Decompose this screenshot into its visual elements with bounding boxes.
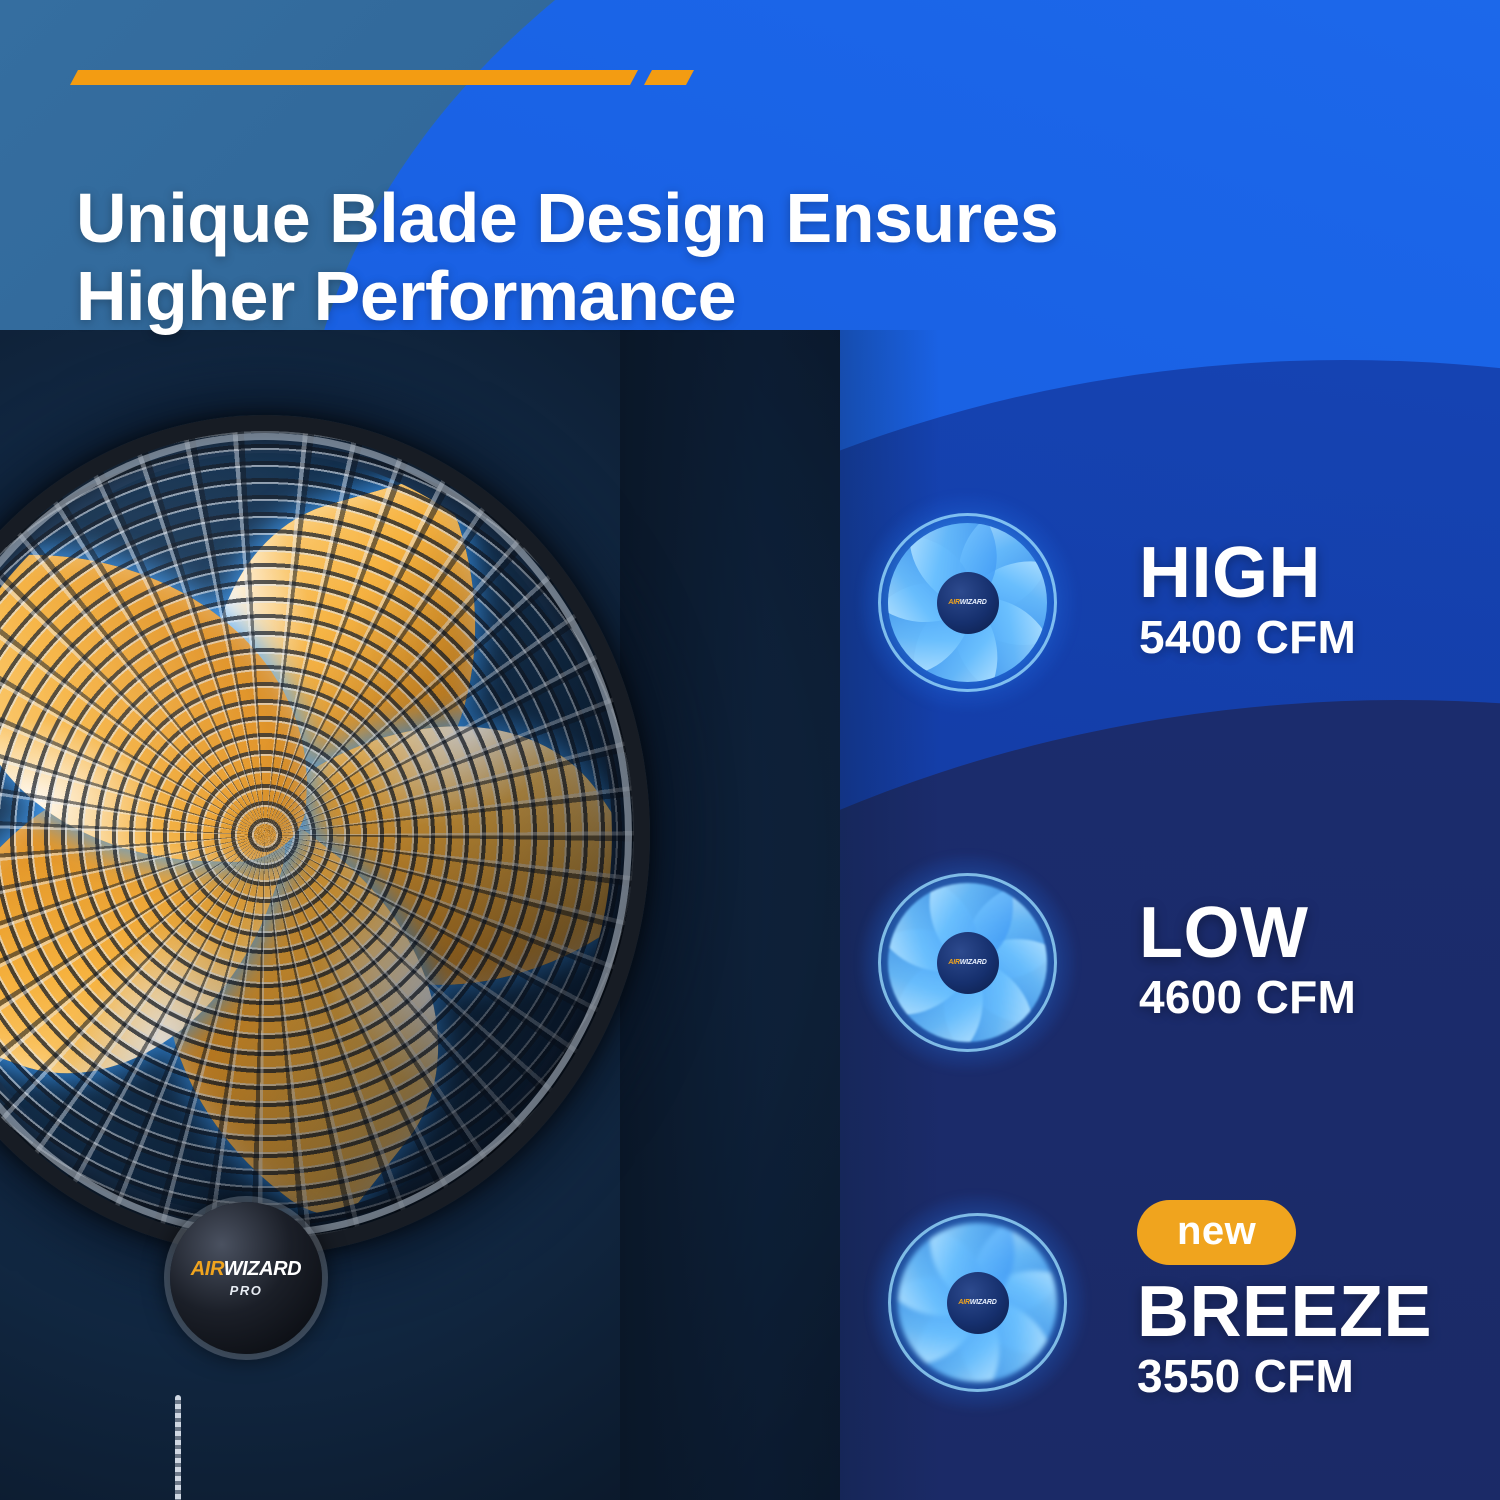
accent-bar-short [644,70,694,85]
icon-hub: AIRWIZARD [937,932,999,994]
accent-bar-long [70,70,638,85]
spec-text-low: LOW 4600 CFM [1139,898,1356,1026]
pull-chain [175,1395,181,1500]
brand-wordmark: AIRWIZARD [191,1259,301,1279]
page-title: Unique Blade Design Ensures Higher Perfo… [76,179,1256,336]
icon-hub-air: AIR [958,1299,969,1306]
product-feature-banner: Unique Blade Design Ensures Higher Perfo… [0,0,1500,1500]
brand-sub-pro: PRO [230,1283,263,1298]
page-title-line-1: Unique Blade Design Ensures [76,179,1058,257]
icon-hub-wordmark: AIRWIZARD [948,599,986,606]
new-badge: new [1137,1200,1296,1265]
accent-rule [74,68,690,86]
icon-hub: AIRWIZARD [947,1272,1009,1334]
spec-cfm-value: 5400 CFM [1139,609,1356,667]
brand-part-wizard: WIZARD [224,1258,302,1280]
icon-hub-wizard: WIZARD [960,959,987,966]
icon-hub-wizard: WIZARD [970,1299,997,1306]
icon-hub-air: AIR [948,599,959,606]
fan-blade-icon: AIRWIZARD [870,1195,1085,1410]
spec-text-breeze: new BREEZE 3550 CFM [1137,1200,1432,1405]
spec-mode-label: BREEZE [1137,1277,1432,1348]
spec-cfm-value: 4600 CFM [1139,969,1356,1027]
spec-mode-label: LOW [1139,898,1356,969]
icon-hub-wordmark: AIRWIZARD [948,959,986,966]
icon-hub-wizard: WIZARD [960,599,987,606]
fan-blade-icon: AIRWIZARD [860,855,1075,1070]
fan-assembly: AIRWIZARD PRO [0,395,670,1285]
product-image: AIRWIZARD PRO [0,395,760,1355]
spec-row-low: AIRWIZARD LOW 4600 CFM [860,855,1356,1070]
icon-hub: AIRWIZARD [937,572,999,634]
spec-text-high: HIGH 5400 CFM [1139,538,1356,666]
fan-blade-icon: AIRWIZARD [860,495,1075,710]
icon-hub-wordmark: AIRWIZARD [958,1299,996,1306]
spec-cfm-value: 3550 CFM [1137,1348,1432,1406]
spec-mode-label: HIGH [1139,538,1356,609]
spec-row-breeze: AIRWIZARD new BREEZE 3550 CFM [870,1195,1432,1410]
page-title-line-2: Higher Performance [76,257,1256,335]
spec-row-high: AIRWIZARD HIGH 5400 CFM [860,495,1356,710]
fan-hub-logo: AIRWIZARD PRO [170,1202,322,1354]
icon-hub-air: AIR [948,959,959,966]
brand-part-air: AIR [191,1258,224,1280]
